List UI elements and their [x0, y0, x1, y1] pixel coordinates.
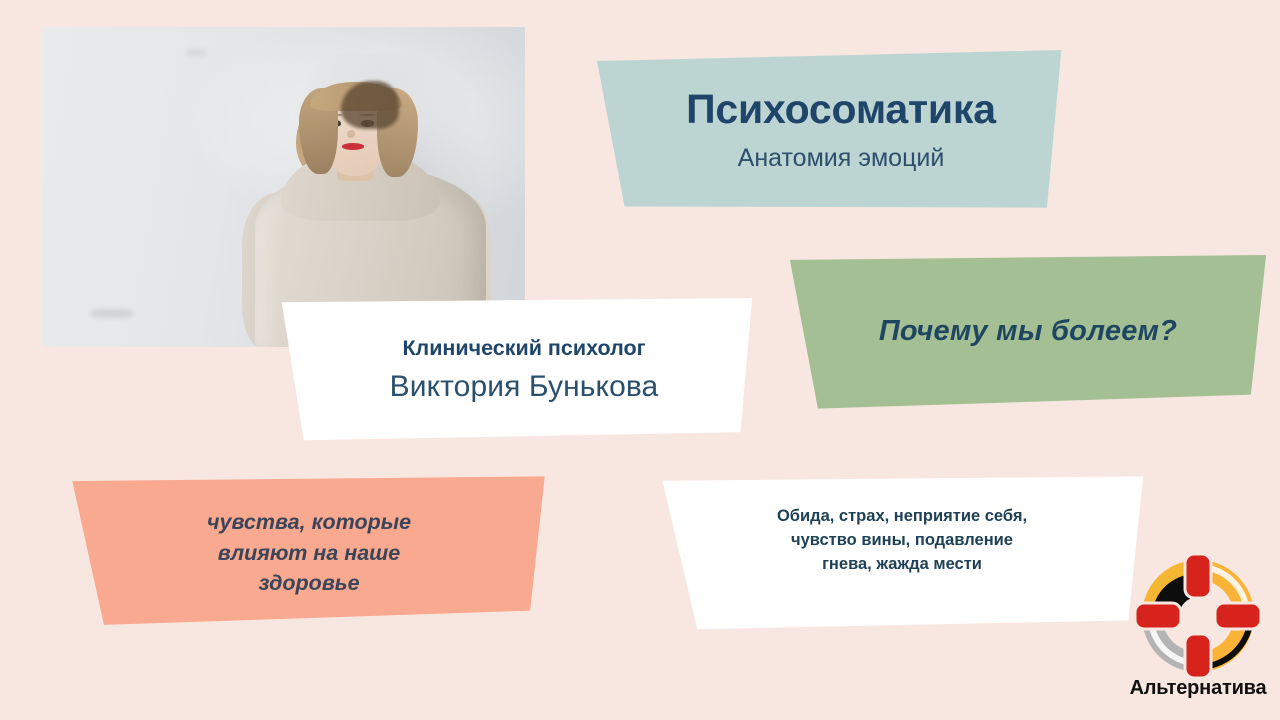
- question-text: Почему мы болеем?: [879, 315, 1177, 348]
- emotions-line: гнева, жажда мести: [777, 553, 1027, 577]
- brand-logo: Альтернатива: [1118, 552, 1278, 712]
- title-banner: Психосоматика Анатомия эмоций: [590, 50, 1070, 210]
- speaker-name: Виктория Бунькова: [390, 370, 659, 403]
- brand-wordmark: Альтернатива: [1118, 677, 1278, 700]
- feelings-banner: чувства, которые влияют на наше здоровье: [66, 474, 552, 632]
- speaker-role: Клинический психолог: [402, 337, 645, 361]
- emotions-banner: Обида, страх, неприятие себя, чувство ви…: [656, 474, 1148, 634]
- feelings-line: здоровье: [207, 568, 411, 599]
- photo-hair-highlight: [341, 81, 399, 129]
- lifebuoy-ring-icon: [1118, 552, 1278, 677]
- photo-wall-mark: [90, 309, 133, 319]
- photo-wall-mark: [187, 49, 206, 55]
- speaker-name-card: Клинический психолог Виктория Бунькова: [276, 296, 754, 444]
- feelings-line: влияют на наше: [207, 538, 411, 569]
- feelings-line: чувства, которые: [207, 507, 411, 538]
- emotions-line: чувство вины, подавление: [777, 529, 1027, 553]
- page-title: Психосоматика: [686, 88, 996, 131]
- slide-canvas: Психосоматика Анатомия эмоций Почему мы …: [0, 0, 1280, 720]
- page-subtitle: Анатомия эмоций: [738, 145, 945, 173]
- emotions-line: Обида, страх, неприятие себя,: [777, 505, 1027, 529]
- question-banner: Почему мы болеем?: [782, 252, 1274, 416]
